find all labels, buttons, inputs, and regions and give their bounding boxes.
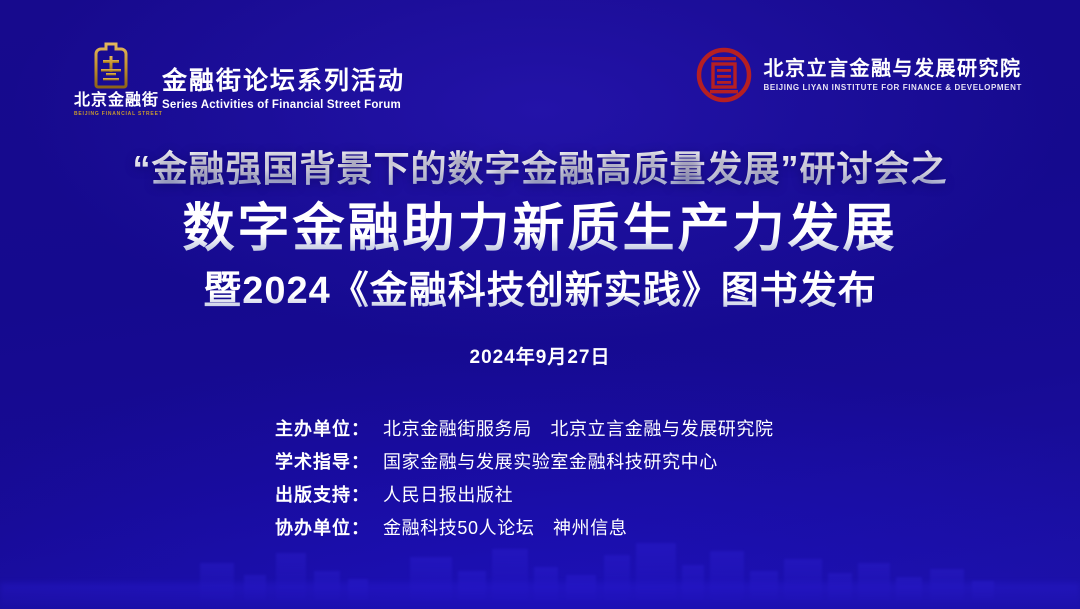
credit-row: 学术指导： 国家金融与发展实验室金融科技研究中心 [275, 448, 805, 477]
credit-label: 主办单位： [275, 415, 383, 444]
bfs-mark-cn: 北京金融街 [74, 92, 148, 110]
credit-value: 北京金融街服务局 北京立言金融与发展研究院 [383, 415, 774, 444]
bfs-title-en: Series Activities of Financial Street Fo… [162, 99, 405, 111]
bfs-title-cn: 金融街论坛系列活动 [162, 67, 405, 96]
credits-block: 主办单位： 北京金融街服务局 北京立言金融与发展研究院 学术指导： 国家金融与发… [0, 415, 1080, 544]
bfs-mark-en: BEIJING FINANCIAL STREET [74, 111, 148, 117]
liyan-name-en: BEIJING LIYAN INSTITUTE FOR FINANCE & DE… [764, 83, 1022, 92]
credit-label: 出版支持： [275, 481, 383, 510]
liyan-red-circular-seal-icon [696, 47, 752, 103]
event-main-title: 数字金融助力新质生产力发展 [0, 197, 1080, 260]
credit-value: 人民日报出版社 [383, 481, 513, 510]
liyan-name-cn: 北京立言金融与发展研究院 [764, 57, 1022, 81]
bfs-mark: 北京金融街 BEIJING FINANCIAL STREET [74, 42, 148, 117]
logo-beijing-financial-street: 北京金融街 BEIJING FINANCIAL STREET 金融街论坛系列活动… [74, 42, 405, 117]
event-date: 2024年9月27日 [0, 342, 1080, 369]
event-secondary-title: 暨2024《金融科技创新实践》图书发布 [0, 268, 1080, 316]
credit-row: 主办单位： 北京金融街服务局 北京立言金融与发展研究院 [275, 415, 805, 444]
credit-row: 出版支持： 人民日报出版社 [275, 481, 805, 510]
title-block: “金融强国背景下的数字金融高质量发展”研讨会之 数字金融助力新质生产力发展 暨2… [0, 146, 1080, 369]
credit-label: 学术指导： [275, 448, 383, 477]
poster-canvas: 北京金融街 BEIJING FINANCIAL STREET 金融街论坛系列活动… [0, 0, 1080, 609]
credit-value: 金融科技50人论坛 神州信息 [383, 514, 627, 543]
beijing-financial-street-gold-seal-icon [88, 42, 134, 90]
liyan-wordmark: 北京立言金融与发展研究院 BEIJING LIYAN INSTITUTE FOR… [764, 57, 1022, 94]
logo-liyan-institute: 北京立言金融与发展研究院 BEIJING LIYAN INSTITUTE FOR… [696, 47, 1022, 103]
bfs-wordmark: 金融街论坛系列活动 Series Activities of Financial… [162, 67, 405, 117]
credit-row: 协办单位： 金融科技50人论坛 神州信息 [275, 514, 805, 543]
event-subtitle-line: “金融强国背景下的数字金融高质量发展”研讨会之 [0, 146, 1080, 191]
header-logos: 北京金融街 BEIJING FINANCIAL STREET 金融街论坛系列活动… [0, 0, 1080, 140]
credit-label: 协办单位： [275, 514, 383, 543]
credit-value: 国家金融与发展实验室金融科技研究中心 [383, 448, 718, 477]
